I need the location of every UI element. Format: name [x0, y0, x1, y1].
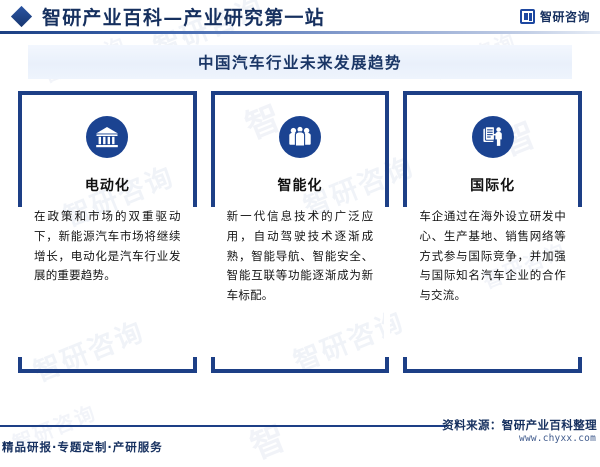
page-footer: 精品研报·专题定制·产研服务 资料来源：智研产业百科整理 www.chyxx.c…: [0, 409, 600, 467]
trend-card-title: 电动化: [85, 175, 130, 195]
brand-block: 智研咨询: [520, 8, 590, 25]
trend-card[interactable]: 智能化 新一代信息技术的广泛应用，自动驾驶技术逐渐成熟，智能导航、智能安全、智能…: [211, 91, 390, 373]
website-url[interactable]: www.chyxx.com: [519, 433, 596, 444]
footer-tagline: 精品研报·专题定制·产研服务: [2, 439, 163, 455]
footer-divider: [0, 425, 447, 427]
page-title: 智研产业百科—产业研究第一站: [42, 3, 325, 30]
trend-card-title: 国际化: [470, 175, 515, 195]
trend-card-body: 车企通过在海外设立研发中心、生产基地、销售网络等方式参与国际竞争，并加强与国际知…: [419, 207, 566, 306]
chart-title: 中国汽车行业未来发展趋势: [198, 51, 402, 73]
bank-building-icon: [86, 116, 128, 158]
trend-card[interactable]: 国际化 车企通过在海外设立研发中心、生产基地、销售网络等方式参与国际竞争，并加强…: [403, 91, 582, 373]
page-header: 智研产业百科—产业研究第一站 智研咨询: [0, 0, 600, 33]
trend-card-body: 新一代信息技术的广泛应用，自动驾驶技术逐渐成熟，智能导航、智能安全、智能互联等功…: [227, 207, 374, 306]
trend-card[interactable]: 电动化 在政策和市场的双重驱动下，新能源汽车市场将继续增长，电动化是汽车行业发展…: [18, 91, 197, 373]
trend-card-body: 在政策和市场的双重驱动下，新能源汽车市场将继续增长，电动化是汽车行业发展的重要趋…: [34, 207, 181, 286]
chart-title-banner: 中国汽车行业未来发展趋势: [28, 45, 572, 79]
trend-card-list: 电动化 在政策和市场的双重驱动下，新能源汽车市场将继续增长，电动化是汽车行业发展…: [18, 91, 582, 373]
brand-name: 智研咨询: [540, 8, 590, 25]
trend-card-title: 智能化: [278, 175, 323, 195]
header-divider: [0, 31, 600, 34]
people-group-icon: [279, 116, 321, 158]
document-person-icon: [472, 116, 514, 158]
diamond-icon: [11, 6, 32, 27]
brand-logo-icon: [520, 9, 535, 24]
source-label: 资料来源：智研产业百科整理: [442, 417, 597, 433]
